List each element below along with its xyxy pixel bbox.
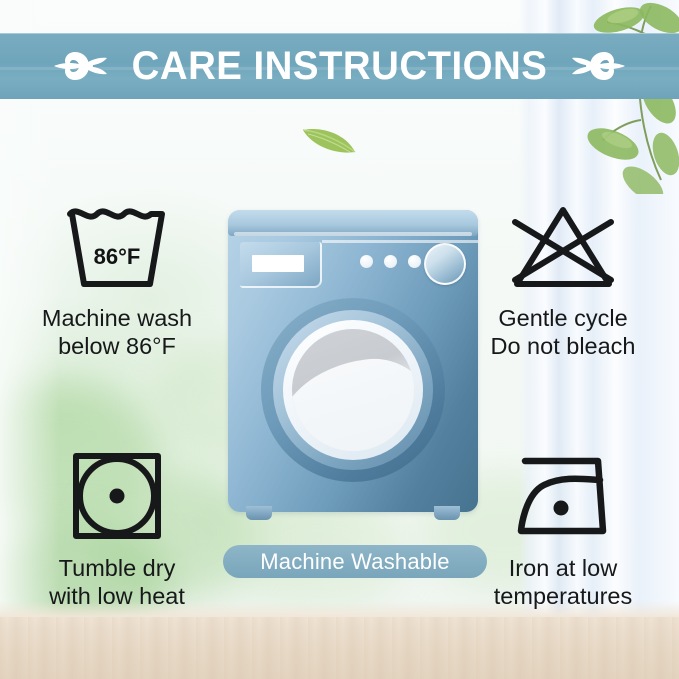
machine-door-rim bbox=[283, 320, 423, 460]
machine-door-ring bbox=[273, 310, 433, 470]
fleur-de-lis-left-icon bbox=[53, 44, 109, 88]
care-symbol-gentle-bleach: Gentle cycle Do not bleach bbox=[458, 192, 668, 360]
care-label-gentle-bleach: Gentle cycle Do not bleach bbox=[458, 304, 668, 360]
care-label-iron-low: Iron at low temperatures bbox=[458, 554, 668, 610]
machine-foot-right bbox=[434, 506, 460, 520]
care-label-tumble-dry: Tumble dry with low heat bbox=[12, 554, 222, 610]
wash-tub-icon-wrap: 86°F bbox=[12, 192, 222, 300]
machine-top-seam bbox=[234, 232, 472, 236]
care-symbol-tumble-dry: Tumble dry with low heat bbox=[12, 442, 222, 610]
program-knob bbox=[424, 243, 466, 285]
iron-icon-wrap bbox=[458, 442, 668, 550]
wash-tub-icon: 86°F bbox=[58, 198, 176, 294]
wash-temperature-value: 86°F bbox=[58, 244, 176, 270]
care-symbol-machine-wash: 86°F Machine wash below 86°F bbox=[12, 192, 222, 360]
tumble-dry-icon-wrap bbox=[12, 442, 222, 550]
tumble-dry-low-icon bbox=[67, 448, 167, 544]
detergent-drawer bbox=[240, 242, 322, 288]
machine-door-glass bbox=[292, 329, 414, 451]
control-panel-seam bbox=[322, 240, 478, 243]
washing-machine-illustration bbox=[228, 210, 478, 520]
detergent-drawer-slot bbox=[252, 255, 304, 272]
triangle-crossed-icon-wrap bbox=[458, 192, 668, 300]
fleur-de-lis-right-icon bbox=[570, 44, 626, 88]
banner-title: CARE INSTRUCTIONS bbox=[132, 46, 548, 86]
machine-foot-left bbox=[246, 506, 272, 520]
machine-washable-badge: Machine Washable bbox=[223, 545, 487, 578]
care-instructions-graphic: CARE INSTRUCTIONS 86°F bbox=[0, 0, 679, 679]
wooden-table-surface bbox=[0, 617, 679, 679]
floating-leaf-icon bbox=[300, 122, 358, 156]
care-symbol-iron-low: Iron at low temperatures bbox=[458, 442, 668, 610]
iron-one-dot-icon bbox=[506, 451, 620, 541]
indicator-light-3 bbox=[408, 255, 421, 268]
triangle-crossed-icon bbox=[505, 198, 621, 294]
care-label-machine-wash: Machine wash below 86°F bbox=[12, 304, 222, 360]
machine-door-reflection bbox=[292, 351, 414, 451]
machine-door bbox=[261, 298, 445, 482]
indicator-light-1 bbox=[360, 255, 373, 268]
machine-washable-badge-label: Machine Washable bbox=[260, 549, 449, 575]
header-banner: CARE INSTRUCTIONS bbox=[0, 33, 679, 99]
indicator-light-2 bbox=[384, 255, 397, 268]
